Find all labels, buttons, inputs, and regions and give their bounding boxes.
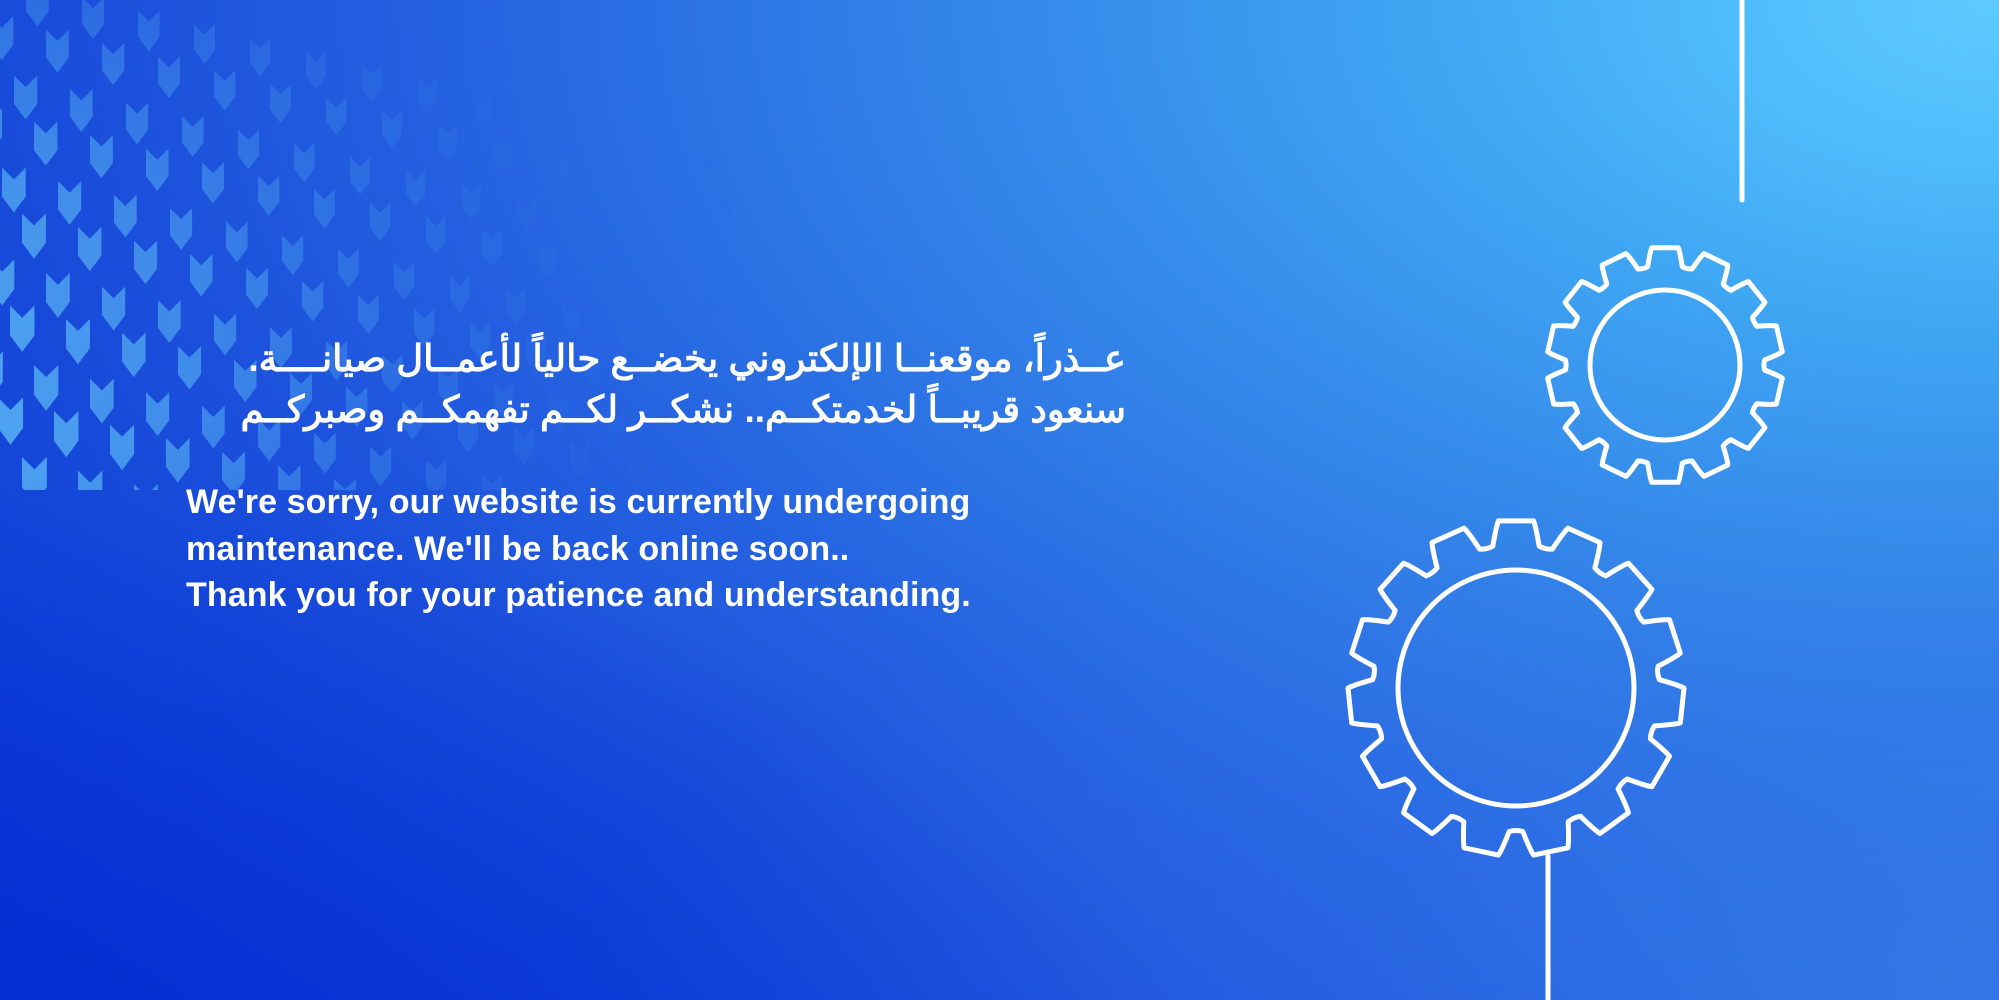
english-message-line-3: Thank you for your patience and understa… [186, 572, 1146, 618]
maintenance-page: عــذراً، موقعنــا الإلكتروني يخضــع حالي… [0, 0, 1999, 1000]
message-block: عــذراً، موقعنــا الإلكتروني يخضــع حالي… [186, 334, 1146, 618]
arabic-message-line-1: عــذراً، موقعنــا الإلكتروني يخضــع حالي… [186, 334, 1126, 385]
arabic-message-line-2: سنعود قريبــاً لخدمتكــم.. نشكــر لكــم … [186, 385, 1126, 436]
english-message-line-1: We're sorry, our website is currently un… [186, 479, 1146, 525]
english-message-line-2: maintenance. We'll be back online soon.. [186, 526, 1146, 572]
english-message: We're sorry, our website is currently un… [186, 479, 1146, 618]
arabic-message: عــذراً، موقعنــا الإلكتروني يخضــع حالي… [186, 334, 1126, 435]
